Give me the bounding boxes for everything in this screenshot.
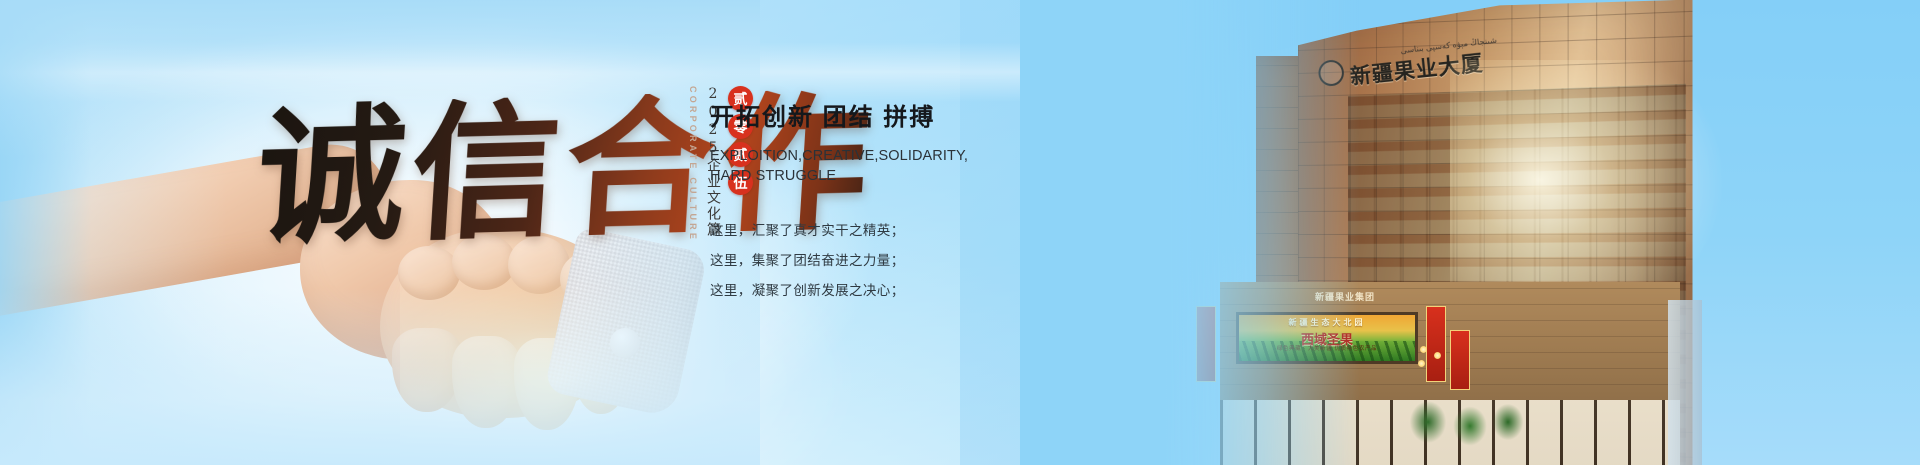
subheadline: EXPLOITION,CREATIVE,SOLIDARITY, HARD STR… (710, 146, 970, 186)
sky (1020, 0, 1920, 465)
billboard-field-image (1239, 341, 1415, 361)
knuckle (560, 252, 616, 306)
subheadline-line-1: EXPLOITION,CREATIVE,SOLIDARITY, (710, 146, 970, 166)
tower-glass-facade (1348, 84, 1686, 465)
vertical-english-caption: CORPORATE CULTURE (688, 86, 698, 242)
finger (452, 336, 520, 428)
vertical-banner (1426, 306, 1446, 382)
headquarters-building-photo: شىنجاڭ مېۋە كەسپى بىناسى 新疆果业大厦 新疆果业集团 新… (1020, 0, 1920, 465)
company-logo-icon (1317, 59, 1345, 87)
street-lamp-icon (1420, 346, 1427, 353)
copy-block: 开拓创新 团结 拼搏 EXPLOITION,CREATIVE,SOLIDARIT… (710, 104, 970, 306)
ground-floor-shops (1220, 400, 1680, 465)
finger (514, 338, 580, 430)
vertical-banner (1196, 306, 1216, 382)
list-item: 这里，凝聚了创新发展之决心； (710, 276, 970, 306)
street-trees (1408, 392, 1528, 465)
cuff-button (607, 325, 643, 361)
corporate-culture-banner: 诚信合作 贰 零 贰 伍 2025企业文化篇 CORPORATE CULTURE… (0, 0, 1920, 465)
tower-crown-cut (1256, 0, 1676, 90)
billboard-top-text: 新疆生态大北园 (1239, 317, 1415, 328)
office-tower (1298, 0, 1693, 465)
podium-sign-text: 新疆果业集团 (1270, 290, 1420, 306)
list-item: 这里，汇聚了真才实干之精英； (710, 216, 970, 246)
list-item: 这里，集聚了团结奋进之力量； (710, 246, 970, 276)
street-lamp-icon (1418, 360, 1425, 367)
billboard-subtext: 绿色典藏 · 大美新疆 优质特色农产品 (1239, 344, 1415, 352)
background-tower (1668, 300, 1702, 465)
building-fade-overlay (1020, 0, 1360, 465)
background-right-gradient (960, 0, 1920, 465)
finger (392, 328, 462, 412)
building-sign: شىنجاڭ مېۋە كەسپى بىناسى 新疆果业大厦 (1348, 29, 1557, 96)
led-billboard: 新疆生态大北园 西域圣果 绿色典藏 · 大美新疆 优质特色农产品 (1236, 312, 1418, 364)
slogan-list: 这里，汇聚了真才实干之精英； 这里，集聚了团结奋进之力量； 这里，凝聚了创新发展… (710, 216, 970, 306)
building-sign-uyghur: شىنجاڭ مېۋە كەسپى بىناسى (1348, 29, 1554, 61)
headline: 开拓创新 团结 拼搏 (710, 104, 970, 132)
podium-base (1220, 282, 1680, 465)
sun-flare (1450, 60, 1750, 360)
vertical-banner (1450, 330, 1470, 390)
tower-side-wing (1256, 56, 1314, 465)
subheadline-line-2: HARD STRUGGLE (710, 166, 970, 186)
finger (572, 332, 630, 414)
billboard-brand-logo: 西域圣果 (1239, 329, 1415, 348)
street-lamp-icon (1434, 352, 1441, 359)
building-sign-chinese: 新疆果业大厦 (1349, 39, 1557, 91)
